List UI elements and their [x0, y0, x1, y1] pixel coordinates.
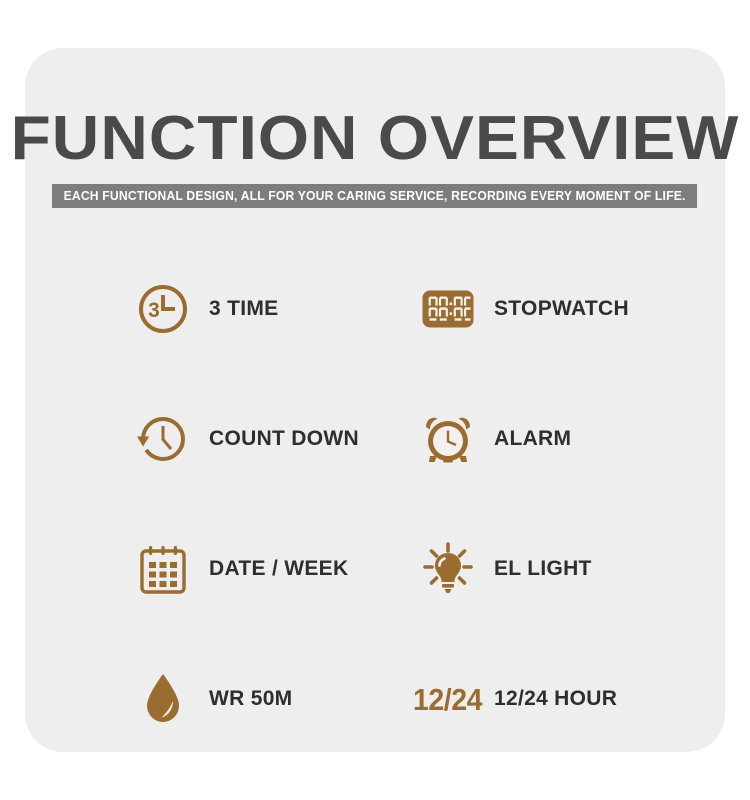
- feature-item-12-24-hour[interactable]: 12/24 12/24 HOUR: [420, 634, 635, 764]
- count-down-clock-icon: [135, 411, 191, 467]
- function-overview-card: FUNCTION OVERVIEW EACH FUNCTIONAL DESIGN…: [25, 48, 725, 752]
- feature-grid: 3 3 TIME: [135, 244, 635, 764]
- alarm-clock-icon: [420, 411, 476, 467]
- twelve-twenty-four-icon: 12/24: [420, 671, 476, 727]
- feature-label: COUNT DOWN: [209, 427, 359, 451]
- feature-item-date-week[interactable]: DATE / WEEK: [135, 504, 420, 634]
- svg-text:3: 3: [148, 299, 160, 322]
- feature-label: 3 TIME: [209, 297, 278, 321]
- subtitle-banner: EACH FUNCTIONAL DESIGN, ALL FOR YOUR CAR…: [25, 184, 725, 208]
- feature-label: 12/24 HOUR: [494, 687, 617, 711]
- feature-item-wr-50m[interactable]: WR 50M: [135, 634, 420, 764]
- stopwatch-digital-icon: [420, 281, 476, 337]
- feature-label: WR 50M: [209, 687, 292, 711]
- three-time-clock-icon: 3: [135, 281, 191, 337]
- calendar-icon: [135, 541, 191, 597]
- feature-item-stopwatch[interactable]: STOPWATCH: [420, 244, 635, 374]
- feature-item-count-down[interactable]: COUNT DOWN: [135, 374, 420, 504]
- feature-item-el-light[interactable]: EL LIGHT: [420, 504, 635, 634]
- feature-label: DATE / WEEK: [209, 557, 348, 581]
- page-root: FUNCTION OVERVIEW EACH FUNCTIONAL DESIGN…: [0, 0, 750, 800]
- feature-item-3-time[interactable]: 3 3 TIME: [135, 244, 420, 374]
- water-drop-icon: [135, 671, 191, 727]
- twelve-twenty-four-glyph: 12/24: [413, 684, 482, 715]
- light-bulb-icon: [420, 541, 476, 597]
- feature-label: ALARM: [494, 427, 571, 451]
- subtitle-text: EACH FUNCTIONAL DESIGN, ALL FOR YOUR CAR…: [52, 184, 697, 208]
- feature-label: STOPWATCH: [494, 297, 629, 321]
- feature-label: EL LIGHT: [494, 557, 592, 581]
- feature-item-alarm[interactable]: ALARM: [420, 374, 635, 504]
- page-title: FUNCTION OVERVIEW: [4, 108, 746, 170]
